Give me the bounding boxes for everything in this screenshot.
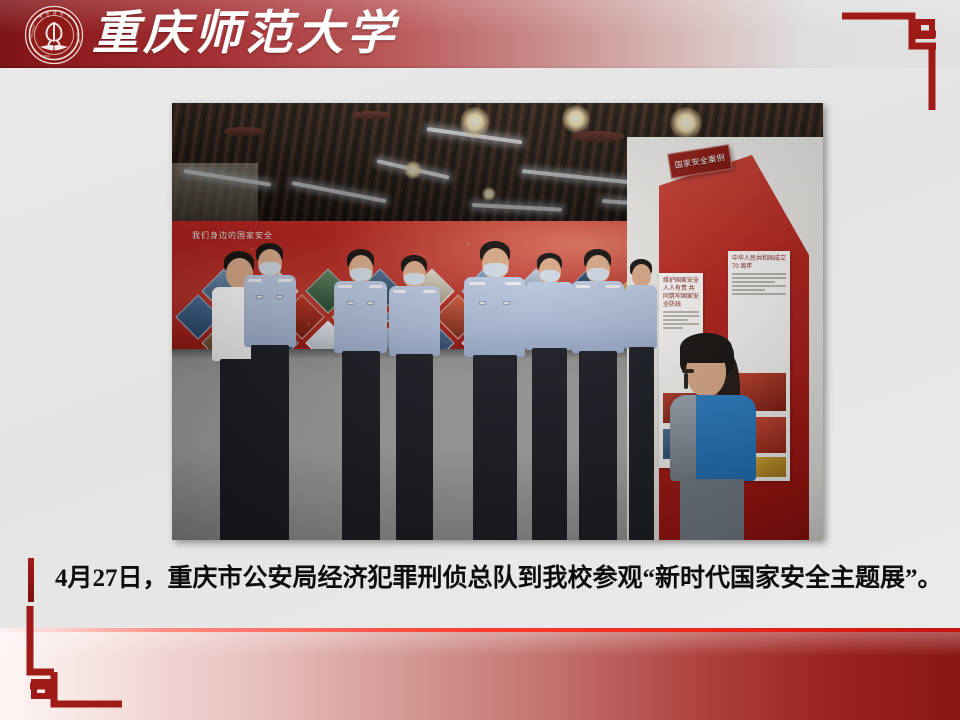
caption-text: 4月27日，重庆市公安局经济犯罪刑侦总队到我校参观“新时代国家安全主题展”。: [55, 554, 945, 604]
person-officer-1: [242, 243, 300, 540]
event-photo: 我们身边的国家安全: [172, 103, 823, 540]
person-officer-7: [624, 259, 658, 540]
person-guide-blue-vest: [666, 333, 758, 540]
person-officer-5: [524, 253, 576, 540]
university-name: 重庆师范大学: [92, 2, 398, 66]
header-band: 重庆师 范大 CHONGQING UNIVERSITY NORMAL 重庆师范大…: [0, 0, 960, 68]
caption-zone: 4月27日，重庆市公安局经济犯罪刑侦总队到我校参观“新时代国家安全主题展”。: [0, 548, 960, 610]
university-seal-icon: 重庆师 范大 CHONGQING UNIVERSITY NORMAL: [23, 5, 85, 65]
signage-text: 国家安全案例: [674, 152, 726, 171]
person-officer-3: [387, 255, 443, 540]
person-officer-2: [332, 249, 390, 540]
info-card-lines: [663, 311, 699, 329]
person-officer-6: [570, 249, 626, 540]
chinese-key-corner-icon-top-right: [840, 8, 942, 112]
slide-root: 重庆师 范大 CHONGQING UNIVERSITY NORMAL 重庆师范大…: [0, 0, 960, 720]
footer-band: [0, 632, 960, 720]
chinese-key-corner-icon-bottom-left: [22, 606, 124, 710]
wall-banner-text: 我们身边的国家安全: [192, 230, 273, 241]
info-card-title: 中华人民共和国成立 70 周年: [732, 255, 786, 271]
photo-canvas: 我们身边的国家安全: [172, 103, 823, 540]
caption-accent-bar: [28, 558, 34, 602]
info-card-lines: [732, 273, 786, 295]
person-officer-4: [462, 241, 528, 540]
ceiling-soffit: [172, 163, 258, 225]
info-card-title: 维护国家安全人人有责 共同筑牢国家安全防线: [663, 277, 699, 309]
svg-text:NORMAL: NORMAL: [40, 55, 51, 58]
footer-shine: [0, 632, 960, 656]
